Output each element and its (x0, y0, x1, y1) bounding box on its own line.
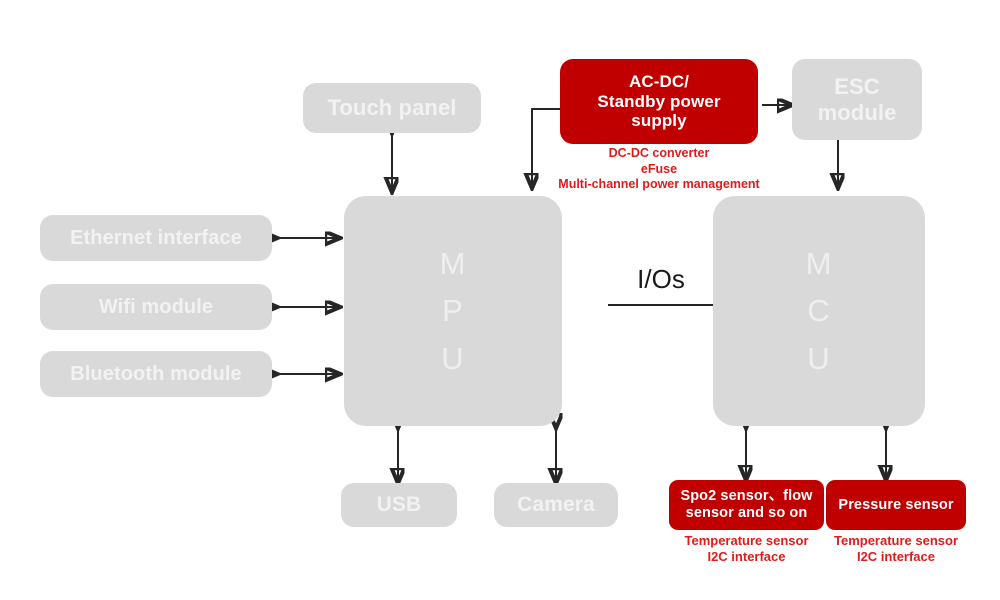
block-ethernet-interface[interactable]: Ethernet interface (40, 215, 272, 261)
block-spo2-sensor[interactable]: Spo2 sensor、flow sensor and so on (669, 480, 824, 530)
mcu-letter-m: M (806, 240, 833, 287)
mpu-letter-p: P (442, 287, 464, 334)
block-wifi-module[interactable]: Wifi module (40, 284, 272, 330)
caption-spo2-sensor: Temperature sensor I2C interface (664, 533, 829, 566)
mpu-letter-m: M (440, 240, 467, 287)
block-camera[interactable]: Camera (494, 483, 618, 527)
block-pressure-sensor[interactable]: Pressure sensor (826, 480, 966, 530)
mpu-letter-u: U (441, 335, 464, 382)
block-usb[interactable]: USB (341, 483, 457, 527)
mcu-letter-c: C (807, 287, 830, 334)
block-touch-panel[interactable]: Touch panel (303, 83, 481, 133)
block-power-supply[interactable]: AC-DC/ Standby power supply (560, 59, 758, 144)
diagram-canvas: M P U M C U Touch panel Ethernet interfa… (0, 0, 1000, 600)
block-esc-module[interactable]: ESC module (792, 59, 922, 140)
caption-pressure-sensor: Temperature sensor I2C interface (821, 533, 971, 566)
block-bluetooth-module[interactable]: Bluetooth module (40, 351, 272, 397)
label-ios: I/Os (613, 264, 709, 295)
block-mcu[interactable]: M C U (713, 196, 925, 426)
mcu-letter-u: U (807, 335, 830, 382)
block-mpu[interactable]: M P U (344, 196, 562, 426)
caption-power-supply: DC-DC converter eFuse Multi-channel powe… (539, 146, 779, 193)
